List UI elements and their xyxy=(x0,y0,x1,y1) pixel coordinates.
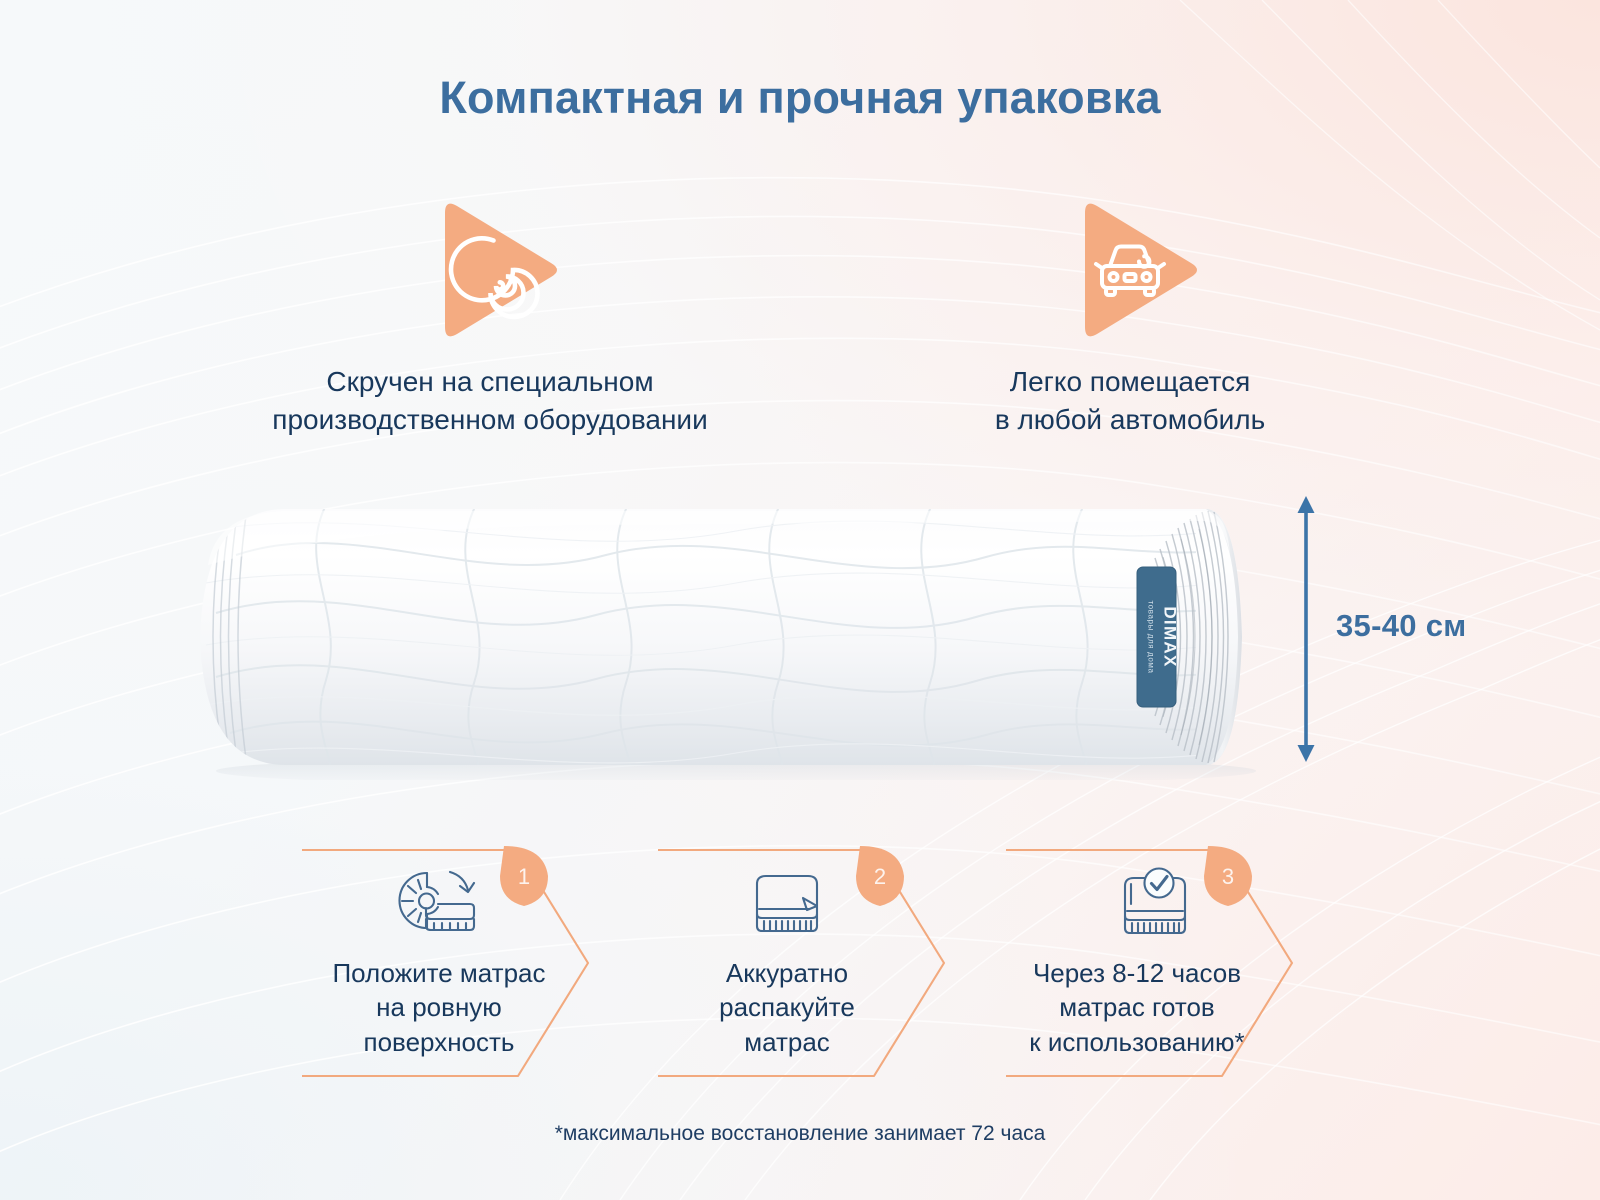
feature-car-caption: Легко помещается в любой автомобиль xyxy=(840,363,1420,438)
rolled-mattress-image: DIMAX товары для дома xyxy=(176,495,1286,780)
dimax-tag: DIMAX товары для дома xyxy=(1137,567,1180,707)
page-title: Компактная и прочная упаковка xyxy=(0,72,1600,124)
svg-text:DIMAX: DIMAX xyxy=(1161,606,1180,667)
feature-roll-caption: Скручен на специальном производственном … xyxy=(170,363,810,438)
step-1: 1 xyxy=(296,838,616,1088)
feature-roll: Скручен на специальном производственном … xyxy=(170,195,810,438)
step-2-text: Аккуратно распакуйте матрас xyxy=(654,956,920,1059)
unroll-mattress-icon xyxy=(314,864,564,944)
step-3-text: Через 8-12 часов матрас готов к использо… xyxy=(992,956,1282,1059)
spiral-roll-icon xyxy=(405,195,575,345)
steps-section: 1 xyxy=(0,838,1600,1088)
car-icon xyxy=(1045,195,1215,345)
step-1-text: Положите матрас на ровную поверхность xyxy=(306,956,572,1059)
dimension-arrow xyxy=(1286,496,1326,762)
feature-car: Легко помещается в любой автомобиль xyxy=(840,195,1420,438)
footnote: *максимальное восстановление занимает 72… xyxy=(0,1122,1600,1146)
mattress-unwrap-icon xyxy=(662,864,912,944)
svg-text:товары для дома: товары для дома xyxy=(1147,600,1156,673)
step-2: 2 Аккуратно распакуйте матрас xyxy=(652,838,972,1088)
infographic-canvas: Компактная и прочная упаковка Скручен на… xyxy=(0,0,1600,1200)
step-3: 3 Через 8-12 часов матрас готов к xyxy=(1000,838,1320,1088)
dimension-label: 35-40 см xyxy=(1336,608,1556,644)
mattress-check-icon xyxy=(1030,864,1280,944)
